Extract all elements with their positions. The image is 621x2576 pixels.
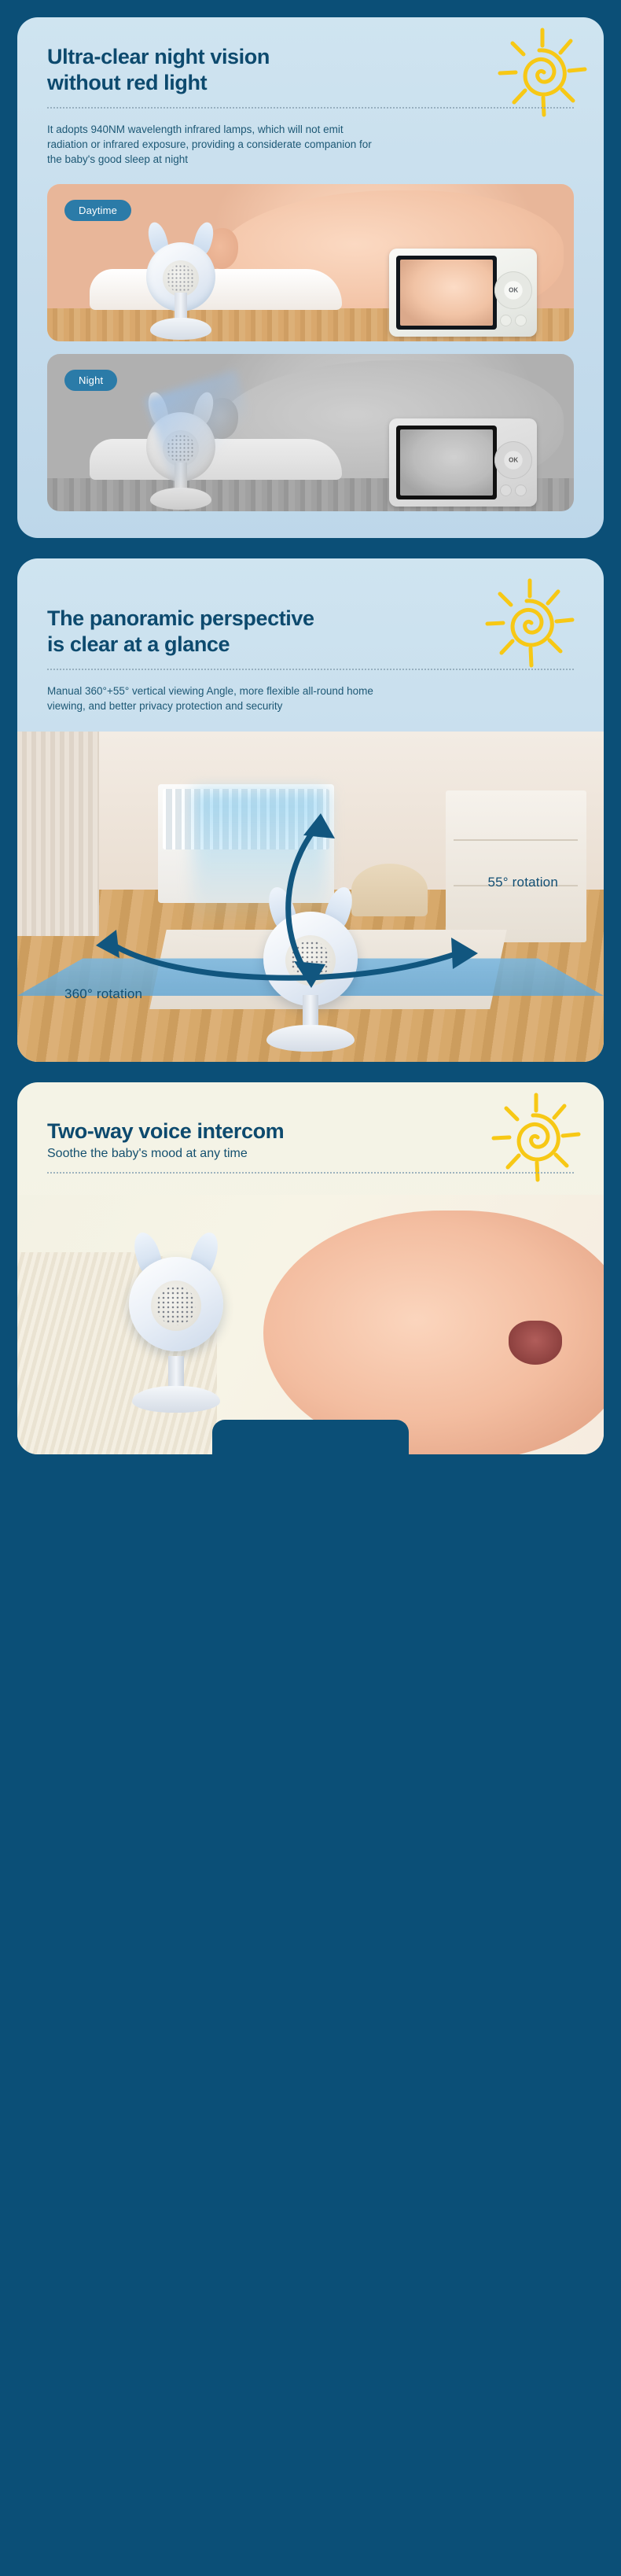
device-base <box>132 1386 220 1413</box>
section-subheading: Soothe the baby's mood at any time <box>47 1147 574 1161</box>
section-night-vision: Ultra-clear night vision without red lig… <box>17 17 604 538</box>
device-speaker-grid <box>167 264 195 293</box>
badge-night: Night <box>64 370 117 391</box>
device-base-night <box>150 488 211 510</box>
monitor-dpad: OK <box>494 271 532 309</box>
monitor-screen-night <box>396 426 497 499</box>
heading-line-2: without red light <box>47 71 207 94</box>
night-scene: OK <box>47 354 574 511</box>
bottom-badge-shape <box>212 1420 409 1454</box>
camera-device-panoramic <box>252 886 369 1052</box>
section-body-text: It adopts 940NM wavelength infrared lamp… <box>47 122 377 167</box>
sun-spiral-icon <box>489 1090 583 1185</box>
page-title-panoramic: The panoramic perspective is clear at a … <box>47 606 472 658</box>
divider-panoramic <box>47 669 574 671</box>
device-neck <box>175 293 187 319</box>
heading-line-1: Two-way voice intercom <box>47 1119 284 1143</box>
product-page: Ultra-clear night vision without red lig… <box>0 0 621 2576</box>
device-base <box>150 318 211 340</box>
device-face <box>263 912 358 1006</box>
handheld-monitor-night: OK <box>389 418 537 507</box>
room-curtain <box>17 732 99 936</box>
monitor-screen <box>396 256 497 330</box>
monitor-button-right-night <box>515 485 527 496</box>
monitor-button-left-night <box>500 485 512 496</box>
panoramic-room-photo: 360° rotation 55° rotation <box>17 732 604 1062</box>
label-360-rotation: 360° rotation <box>64 986 142 1002</box>
heading-line-2: is clear at a glance <box>47 632 230 656</box>
section-body-text-panoramic: Manual 360°+55° vertical viewing Angle, … <box>47 684 393 713</box>
dresser <box>446 790 586 942</box>
badge-daytime: Daytime <box>64 200 131 221</box>
dresser-line <box>454 839 578 841</box>
baby-crying-illustration <box>263 1211 604 1454</box>
camera-device <box>137 222 225 340</box>
divider <box>47 107 574 109</box>
photo-daytime: Daytime <box>47 184 574 341</box>
heading-line-1: Ultra-clear night vision <box>47 45 270 68</box>
camera-device-intercom <box>117 1232 235 1413</box>
monitor-ok-button-night: OK <box>509 456 518 463</box>
device-speaker-grid <box>156 1286 196 1325</box>
section-intercom: Two-way voice intercom Soothe the baby's… <box>17 1082 604 1455</box>
monitor-button-right <box>515 315 527 326</box>
device-lens <box>285 935 336 986</box>
monitor-live-feed-night <box>400 429 493 496</box>
device-lens <box>163 260 199 297</box>
divider-intercom <box>47 1172 574 1174</box>
device-base <box>266 1025 355 1052</box>
monitor-ok-button: OK <box>509 286 518 293</box>
monitor-live-feed <box>400 260 493 326</box>
label-55-rotation: 55° rotation <box>487 875 558 890</box>
page-title: Ultra-clear night vision without red lig… <box>47 44 424 96</box>
device-face <box>129 1257 223 1351</box>
device-lens <box>151 1281 201 1331</box>
handheld-monitor: OK <box>389 249 537 337</box>
photo-night: Night <box>47 354 574 511</box>
page-title-intercom: Two-way voice intercom <box>47 1118 424 1144</box>
photo-intercom <box>17 1195 604 1454</box>
monitor-keypad-night: OK <box>497 426 530 499</box>
device-speaker-grid <box>291 941 330 980</box>
monitor-button-left <box>500 315 512 326</box>
sun-spiral-icon <box>483 576 577 670</box>
baby-mouth <box>509 1321 562 1365</box>
monitor-dpad-night: OK <box>494 441 532 479</box>
sun-spiral-icon <box>495 25 590 120</box>
monitor-keypad: OK <box>497 256 530 330</box>
section-panoramic: The panoramic perspective is clear at a … <box>17 558 604 1061</box>
heading-line-1: The panoramic perspective <box>47 606 314 630</box>
